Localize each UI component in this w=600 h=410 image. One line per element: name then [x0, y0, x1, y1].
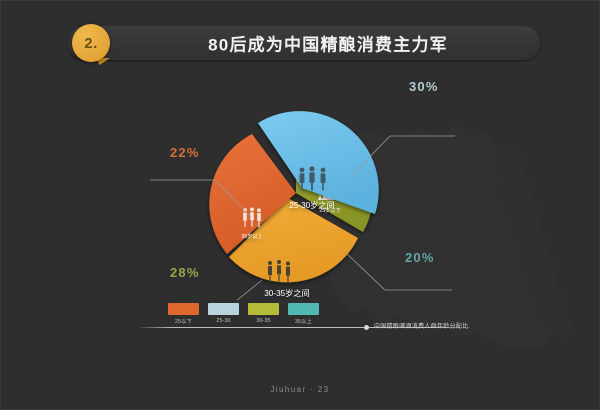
legend-item-25-30[interactable]: 25-30 — [208, 303, 239, 325]
legend-label-30-35: 30-35 — [248, 318, 279, 324]
chart-legend: 25以下 25-30 30-35 35以上 — [168, 303, 319, 325]
title-bar: 80后成为中国精酿消费主力军 — [68, 26, 540, 60]
section-number-badge: 2. — [72, 24, 110, 62]
chart-caption: 中国精酿啤酒消费人群年龄分配比 — [374, 321, 469, 330]
legend-label-25-30: 25-30 — [208, 318, 239, 324]
legend-item-30-35[interactable]: 30-35 — [248, 303, 279, 325]
section-number-label: 2. — [84, 35, 98, 52]
legend-item-under-25[interactable]: 25以下 — [168, 303, 199, 325]
legend-swatch-over-35 — [288, 303, 319, 315]
legend-label-under-25: 25以下 — [168, 318, 199, 325]
legend-label-over-35: 35以上 — [288, 318, 319, 325]
pie-chart: 25岁以下 30-35岁之间 35岁以上 — [0, 60, 600, 300]
legend-swatch-25-30 — [208, 303, 239, 315]
legend-item-over-35[interactable]: 35以上 — [288, 303, 319, 325]
legend-swatch-under-25 — [168, 303, 199, 315]
caption-rule-dot — [364, 325, 369, 330]
callout-percent-under-25: 20% — [405, 250, 435, 265]
callout-percent-25-30: 30% — [409, 79, 439, 94]
callout-percent-over-35: 22% — [170, 145, 200, 160]
slide-footer: Jiuhuar · 23 — [0, 385, 600, 394]
callout-percent-30-35: 28% — [170, 265, 200, 280]
legend-swatch-30-35 — [248, 303, 279, 315]
page-title: 80后成为中国精酿消费主力军 — [68, 31, 540, 56]
pie-slice-label-30-35: 30-35岁之间 — [264, 288, 310, 298]
slide-canvas: 80后成为中国精酿消费主力军 2. — [0, 0, 600, 410]
